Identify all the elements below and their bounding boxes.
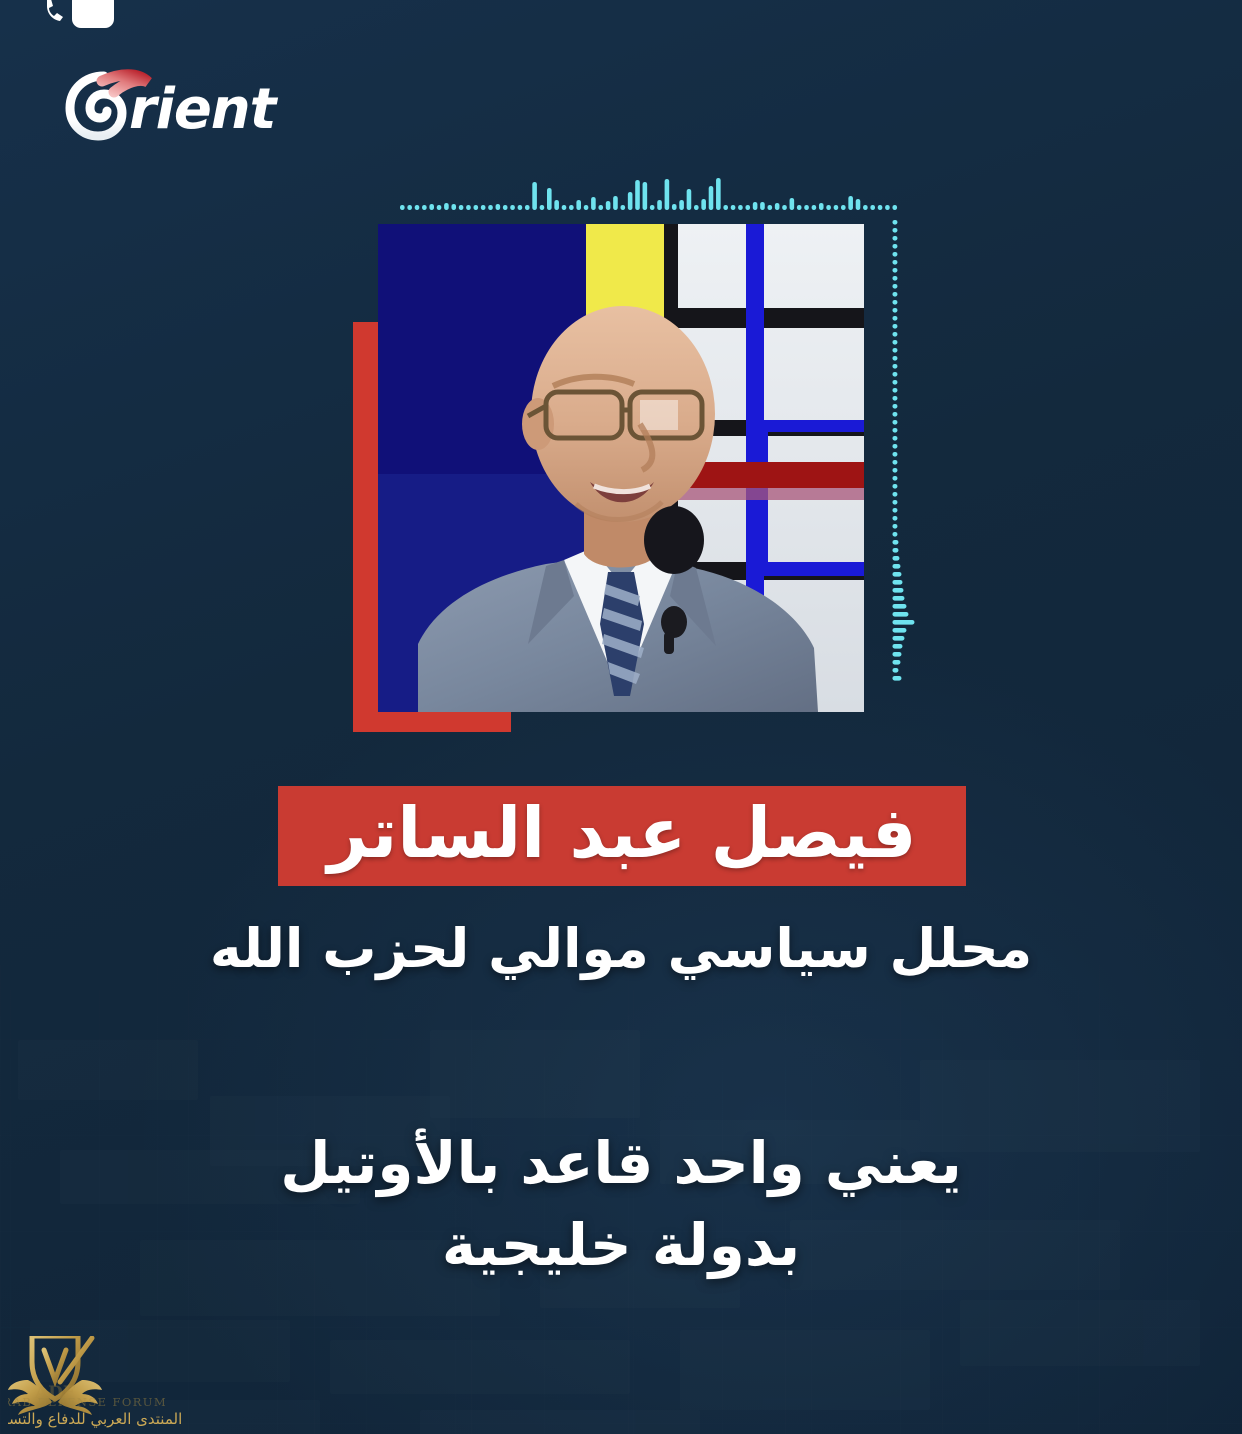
- status-sliver: [0, 0, 1242, 34]
- speaker-role: محلل سياسي موالي لحزب الله: [0, 915, 1242, 983]
- quote-line-1: يعني واحد قاعد بالأوتيل: [0, 1122, 1242, 1204]
- speaker-name: فيصل عبد الساتر: [327, 798, 916, 874]
- speaker-name-banner: فيصل عبد الساتر: [278, 786, 966, 886]
- brand-wordmark: rient: [129, 77, 279, 142]
- watermark: ADF ARAB DEFENSE FORUM المنتدى العربي لل…: [8, 1336, 208, 1428]
- orient-logo: rient: [62, 68, 292, 142]
- phone-icon[interactable]: [41, 0, 71, 24]
- quote-block: يعني واحد قاعد بالأوتيل بدولة خليجية: [0, 1122, 1242, 1287]
- quote-line-2: بدولة خليجية: [0, 1204, 1242, 1286]
- watermark-latin-text: ARAB DEFENSE FORUM: [8, 1395, 167, 1409]
- video-card: rient: [0, 0, 1242, 1434]
- white-chip[interactable]: [72, 0, 114, 28]
- speaker-photo: [378, 224, 864, 712]
- watermark-arabic-text: المنتدى العربي للدفاع والتسليح: [8, 1410, 182, 1428]
